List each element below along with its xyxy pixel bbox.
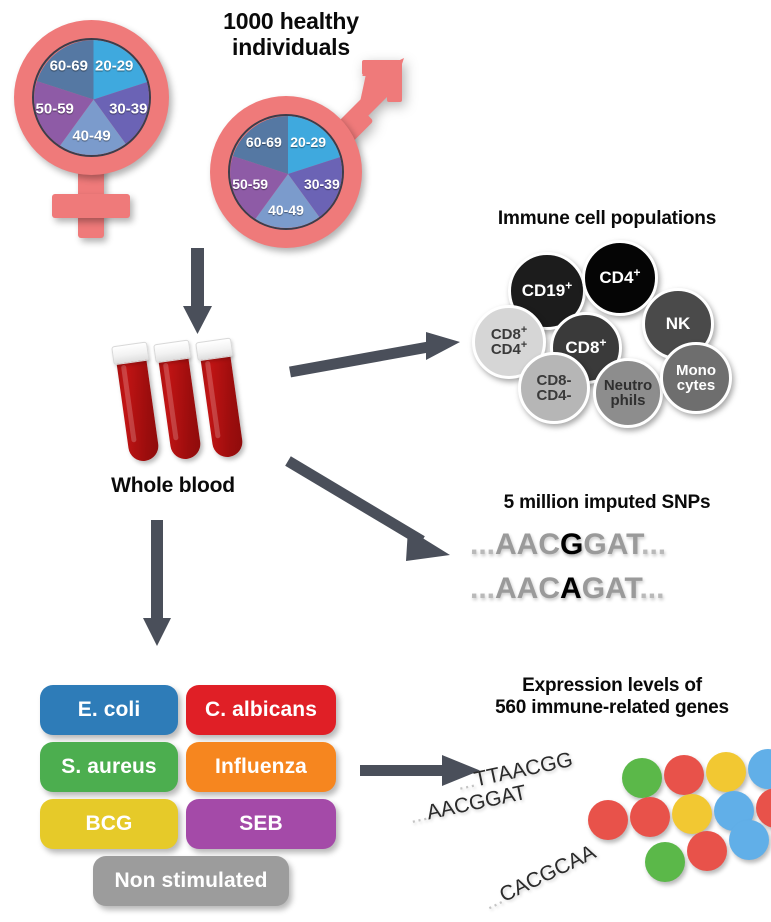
pie-slice-label-60-69: 60-69 (246, 134, 282, 150)
immune-cell-cd8cd4: CD8-CD4- (518, 352, 590, 424)
blood-tube (196, 338, 246, 462)
stimulus-box-ecoli[interactable]: E. coli (40, 685, 178, 735)
stimulus-box-influenza[interactable]: Influenza (186, 742, 336, 792)
gene-strand-sequence: ...CACGCAA (480, 841, 600, 916)
arrow-blood-to-stimulation (138, 520, 178, 650)
stimulus-label: SEB (239, 812, 282, 836)
stimulus-box-seb[interactable]: SEB (186, 799, 336, 849)
expression-panel-heading: Expression levels of 560 immune-related … (462, 675, 762, 719)
gene-expression-bead (729, 820, 769, 860)
stimulus-label: BCG (86, 812, 133, 836)
stimulus-label: Influenza (215, 755, 307, 779)
pie-slice-label-40-49: 40-49 (268, 202, 304, 218)
stimulus-label: C. albicans (205, 698, 317, 722)
pie-slice-label-20-29: 20-29 (95, 58, 133, 75)
female-symbol-crossbar (52, 194, 130, 218)
gene-expression-bead (622, 758, 662, 798)
snp-sequence-list: ...AACGGAT......AACAGAT... (470, 528, 750, 618)
gene-expression-bead (748, 749, 771, 789)
gene-expression-bead (672, 794, 712, 834)
immune-panel-heading: Immune cell populations (452, 208, 762, 230)
pie-slice-label-30-39: 30-39 (304, 176, 340, 192)
male-age-pie-labels: 20-2930-3940-4950-5960-69 (228, 114, 344, 230)
stimulus-label: Non stimulated (114, 869, 267, 893)
stimulus-box-calbicans[interactable]: C. albicans (186, 685, 336, 735)
immune-cell-label: CD19+ (522, 282, 573, 299)
immune-cell-neutrophils: Neutrophils (593, 358, 663, 428)
immune-cell-monocytes: Monocytes (660, 342, 732, 414)
snp-left-flank: AAC (495, 572, 560, 605)
whole-blood-tubes (106, 336, 246, 476)
stimulus-box-saureus[interactable]: S. aureus (40, 742, 178, 792)
male-symbol: 20-2930-3940-4950-5960-69 (208, 62, 408, 252)
arrow-blood-to-immune (288, 330, 468, 380)
immune-cell-label: Neutrophils (604, 378, 652, 409)
snp-suffix: ... (639, 572, 664, 605)
immune-cell-label: NK (666, 315, 691, 332)
gene-strand-prefix: ... (407, 802, 429, 828)
female-symbol: 20-2930-3940-4950-5960-69 (8, 12, 188, 237)
study-design-diagram: 1000 healthy individuals 20-2930-3940-49… (0, 0, 771, 922)
gene-expression-bead (645, 842, 685, 882)
gene-expression-bead (706, 752, 746, 792)
stimulus-label: E. coli (78, 698, 141, 722)
snp-variant-base: G (560, 528, 583, 561)
pie-slice-label-40-49: 40-49 (72, 128, 110, 145)
snp-prefix: ... (470, 572, 495, 605)
genotype-panel-heading: 5 million imputed SNPs (452, 492, 762, 514)
gene-strand-bases: CACGCAA (496, 841, 599, 907)
snp-left-flank: AAC (495, 528, 560, 561)
expression-heading-line1: Expression levels of (462, 675, 762, 697)
female-age-pie-labels: 20-2930-3940-4950-5960-69 (32, 38, 151, 157)
whole-blood-label: Whole blood (78, 474, 268, 498)
immune-cell-label: CD4+ (599, 269, 640, 286)
stimulus-box-bcg[interactable]: BCG (40, 799, 178, 849)
gene-expression-bead (687, 831, 727, 871)
gene-strand-prefix: ... (480, 886, 506, 914)
immune-cell-label: Monocytes (676, 363, 716, 394)
snp-right-flank: GAT (583, 528, 641, 561)
gene-expression-bead (714, 791, 754, 831)
snp-prefix: ... (470, 528, 495, 561)
stimulus-box-nonstimulated[interactable]: Non stimulated (93, 856, 289, 906)
pie-slice-label-20-29: 20-29 (290, 134, 326, 150)
pie-slice-label-50-59: 50-59 (36, 101, 74, 118)
expression-heading-line2: 560 immune-related genes (462, 697, 762, 719)
immune-cell-label: CD8-CD4- (536, 373, 571, 404)
arrow-blood-to-snps (286, 455, 466, 575)
gene-expression-bead (630, 797, 670, 837)
pie-slice-label-30-39: 30-39 (109, 101, 147, 118)
snp-sequence-row: ...AACGGAT... (470, 528, 666, 562)
gene-expression-bead (588, 800, 628, 840)
snp-variant-base: A (560, 572, 582, 605)
arrow-stimulation-to-expression (358, 750, 488, 794)
arrow-cohort-to-blood (178, 248, 218, 340)
pie-slice-label-60-69: 60-69 (50, 58, 88, 75)
immune-cell-label: CD8+ (565, 339, 606, 356)
gene-expression-bead (664, 755, 704, 795)
immune-cell-label: CD8+CD4+ (491, 327, 527, 358)
snp-right-flank: GAT (582, 572, 640, 605)
stimulus-label: S. aureus (61, 755, 156, 779)
snp-suffix: ... (641, 528, 666, 561)
cohort-heading-line1: 1000 healthy (176, 8, 406, 34)
pie-slice-label-50-59: 50-59 (232, 176, 268, 192)
cohort-heading: 1000 healthy individuals (176, 8, 406, 61)
gene-expression-bead (756, 788, 771, 828)
snp-sequence-row: ...AACAGAT... (470, 572, 664, 606)
